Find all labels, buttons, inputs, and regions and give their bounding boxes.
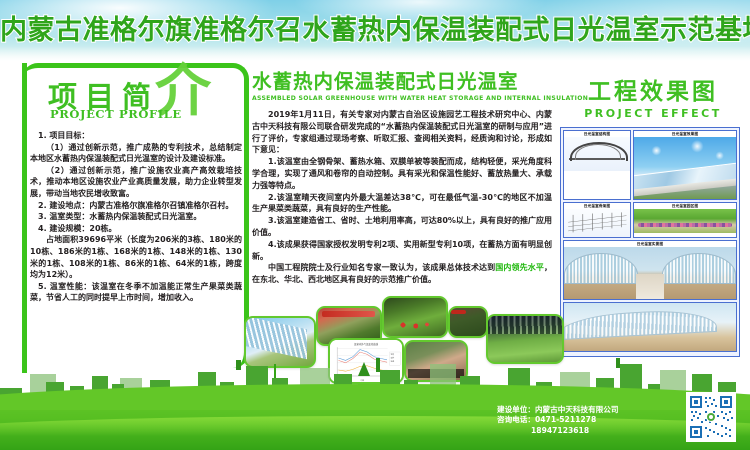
tunnel-photo <box>564 247 736 299</box>
effect-board-row: 日光温室结构图 日光温室效果图 <box>563 130 737 200</box>
truss-svg <box>567 212 628 234</box>
row-greenhouse-photo <box>564 303 736 351</box>
project-effect-heading-en: PROJECT EFFECT <box>560 107 746 120</box>
truss-drawing-icon <box>564 209 630 237</box>
article-title: 水蓄热内保温装配式日光温室 <box>252 70 552 94</box>
seedling-rows-photo[interactable] <box>486 314 564 364</box>
profile-paragraph: 3. 温室类型：水蓄热内保温装配式日光温室。 <box>30 211 242 223</box>
effect-image-board: 日光温室结构图 日光温室效果图 日光温室骨架图 <box>560 127 740 357</box>
article-conclusion: 中国工程院院士及行业知名专家一致认为，该成果总体技术达到国内领先水平，在东北、华… <box>252 262 552 286</box>
phone-number-2: 18947123618 <box>497 426 672 436</box>
qr-code-svg <box>688 394 734 440</box>
greenhouse-article-panel: 水蓄热内保温装配式日光温室 ASSEMBLED SOLAR GREENHOUSE… <box>252 70 552 286</box>
profile-paragraph: 5. 温室性能：该温室在冬季不加温能正常生产果菜类蔬菜，节省人工的同时提早上市时… <box>30 281 242 304</box>
article-body: 2019年1月11日，有关专家对内蒙古自治区设施园艺工程技术研究中心、内蒙古中天… <box>252 109 552 286</box>
project-profile-heading-en: PROJECT PROFILE <box>50 107 182 121</box>
page-title: 内蒙古准格尔旗准格尔召水蓄热内保温装配式日光温室示范基地 <box>0 14 750 48</box>
effect-board-row: 日光温室实景图 <box>563 240 737 300</box>
qr-code[interactable] <box>686 392 736 442</box>
left-panel-frame-edge <box>22 63 27 373</box>
profile-paragraph: （1）通过创新示范，推广成熟的专利技术，总结制定本地区水蓄热内保温装配式日光温室… <box>30 142 242 165</box>
effect-cell-exterior[interactable]: 日光温室效果图 <box>633 130 737 200</box>
conclusion-highlight: 国内领先水平 <box>495 263 544 272</box>
project-profile-heading: 项目简 介 PROJECT PROFILE <box>30 70 245 128</box>
article-paragraph: 1.该温室由全钢骨架、蓄热水箱、双膜单被等装配而成，结构轻便，采光角度科学合理，… <box>252 156 552 191</box>
svg-text:温室内外气温变化曲线: 温室内外气温变化曲线 <box>354 342 379 346</box>
project-effect-panel: 工程效果图 PROJECT EFFECT 日光温室结构图 日光温室效果图 <box>560 72 746 357</box>
project-profile-body: 1. 项目目标： （1）通过创新示范，推广成熟的专利技术，总结制定本地区水蓄热内… <box>30 130 242 304</box>
effect-cell-truss[interactable]: 日光温室骨架图 <box>563 202 631 238</box>
phone-number-1: 0471-5211278 <box>535 415 596 424</box>
footer-contact-info: 建设单位：内蒙古中天科技有限公司 咨询电话：0471-5211278 18947… <box>497 405 672 436</box>
poster-root: 内蒙古准格尔旗准格尔召水蓄热内保温装配式日光温室示范基地 项目简 介 PROJE… <box>0 0 750 450</box>
article-title-en: ASSEMBLED SOLAR GREENHOUSE WITH WATER HE… <box>252 95 552 102</box>
profile-paragraph: 4. 建设规模：20栋。 <box>30 223 242 235</box>
profile-paragraph: 2. 建设地点：内蒙古准格尔旗准格尔召镇准格尔召村。 <box>30 200 242 212</box>
project-effect-heading-cn: 工程效果图 <box>560 72 746 106</box>
phone-label: 咨询电话： <box>497 415 535 424</box>
effect-cell-row-greenhouse[interactable] <box>563 302 737 352</box>
profile-paragraph: 1. 项目目标： <box>30 130 242 142</box>
structure-drawing-icon <box>564 137 630 171</box>
garden-photo <box>634 209 736 233</box>
project-profile-panel: 项目简 介 PROJECT PROFILE 1. 项目目标： （1）通过创新示范… <box>30 70 245 370</box>
greenhouse-exterior-photo <box>634 137 736 199</box>
effect-board-row <box>563 302 737 352</box>
effect-board-row: 日光温室骨架图 日光温室园区图 <box>563 202 737 238</box>
market-produce-photo[interactable] <box>448 306 488 338</box>
builder-line: 建设单位：内蒙古中天科技有限公司 <box>497 405 672 415</box>
conclusion-prefix: 中国工程院院士及行业知名专家一致认为，该成果总体技术达到 <box>268 263 495 272</box>
effect-cell-garden[interactable]: 日光温室园区图 <box>633 202 737 238</box>
effect-cell-tunnel[interactable]: 日光温室实景图 <box>563 240 737 300</box>
effect-cell-structure[interactable]: 日光温室结构图 <box>563 130 631 200</box>
article-paragraph: 2.该温室晴天夜间室内外最大温差达38℃，可在最低气温-30℃的地区不加温生产果… <box>252 192 552 216</box>
article-paragraph: 4.该成果获得国家授权发明专利2项、实用新型专利10项，在蓄热方面有明显创新。 <box>252 239 552 263</box>
strawberry-crop-photo[interactable] <box>382 296 448 338</box>
article-paragraph: 3.该温室建造省工、省时、土地利用率高，可达80%以上，具有良好的推广应用价值。 <box>252 215 552 239</box>
profile-paragraph: 占地面积39696平米（长度为206米的3栋、180米的10栋、186米的1栋、… <box>30 234 242 280</box>
profile-paragraph: （2）通过创新示范，推广设施农业高产高效栽培技术，推动本地区设施农业产业高质量发… <box>30 165 242 200</box>
article-paragraph: 2019年1月11日，有关专家对内蒙古自治区设施园艺工程技术研究中心、内蒙古中天… <box>252 109 552 156</box>
phone-line-1: 咨询电话：0471-5211278 <box>497 415 672 425</box>
